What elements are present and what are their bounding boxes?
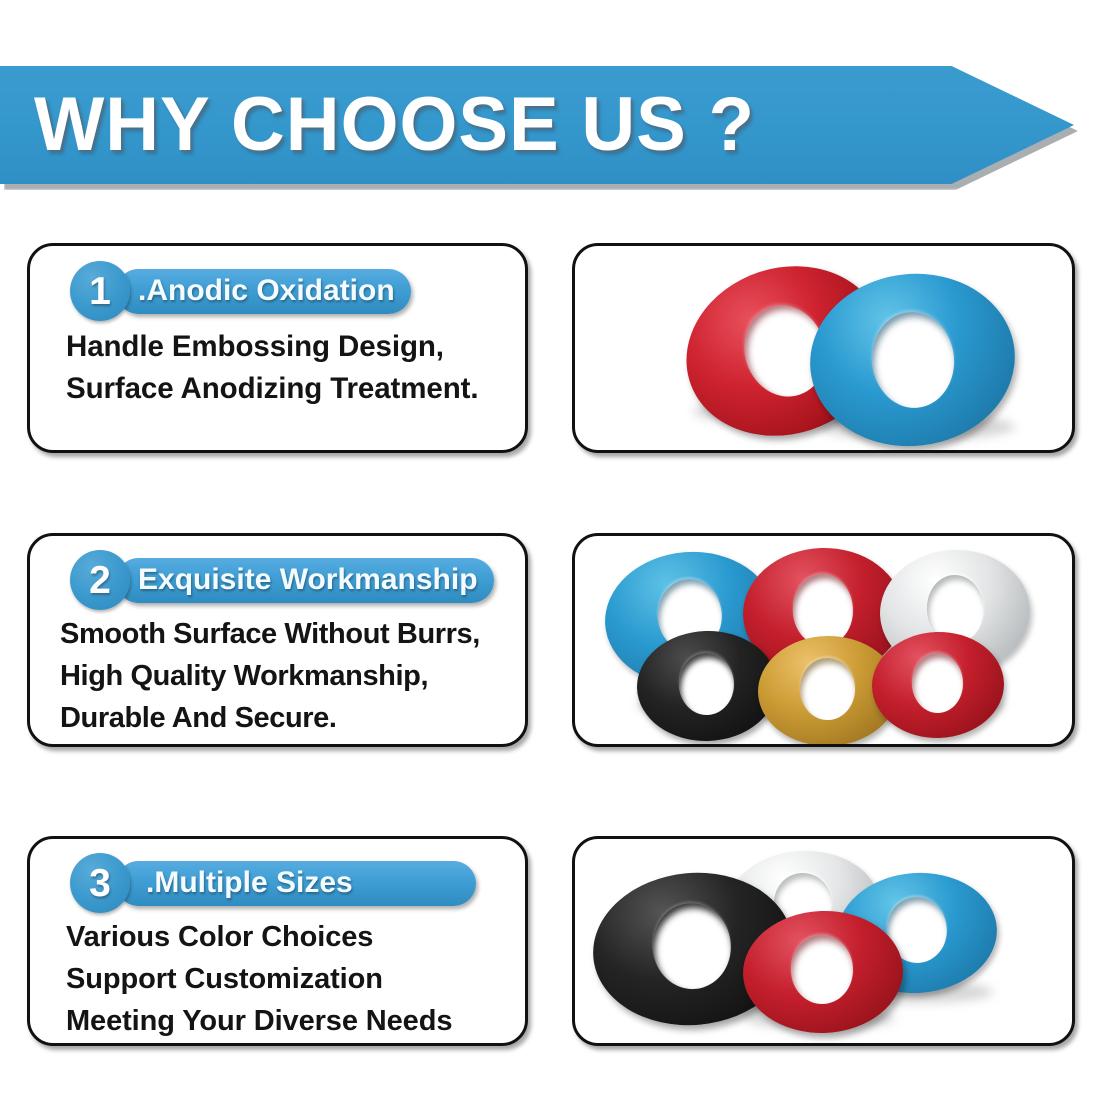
feature-heading-3: 3 .Multiple Sizes xyxy=(44,853,511,913)
feature-row-2: 2 Exquisite Workmanship Smooth Surface W… xyxy=(0,533,1100,747)
body-line: Handle Embossing Design, xyxy=(66,326,507,368)
feature-body-3: Various Color Choices Support Customizat… xyxy=(44,917,511,1042)
step-number-2: 2 xyxy=(89,561,111,600)
header-banner: WHY CHOOSE US ? xyxy=(0,66,1078,184)
feature-title-pill-3: .Multiple Sizes xyxy=(116,861,476,906)
feature-title-pill-1: .Anodic Oxidation xyxy=(116,269,411,314)
product-photo-3 xyxy=(572,836,1075,1046)
body-line: Surface Anodizing Treatment. xyxy=(66,368,507,410)
washer-hole xyxy=(678,652,735,715)
product-photo-1 xyxy=(572,243,1075,453)
product-photo-2 xyxy=(572,533,1075,747)
step-number-3: 3 xyxy=(89,864,111,903)
feature-card-1: 1 .Anodic Oxidation Handle Embossing Des… xyxy=(27,243,528,453)
banner-arrow-shape: WHY CHOOSE US ? xyxy=(0,66,1074,184)
step-badge-2: 2 xyxy=(70,550,130,610)
washer-hole xyxy=(799,658,855,721)
body-line: Various Color Choices xyxy=(66,917,507,959)
step-number-1: 1 xyxy=(89,272,111,311)
feature-body-2: Smooth Surface Without Burrs, High Quali… xyxy=(44,614,511,739)
feature-title-1: .Anodic Oxidation xyxy=(138,276,395,306)
feature-heading-2: 2 Exquisite Workmanship xyxy=(44,550,511,610)
body-line: Support Customization xyxy=(66,959,507,1001)
page-title: WHY CHOOSE US ? xyxy=(34,87,755,163)
feature-title-pill-2: Exquisite Workmanship xyxy=(116,558,494,603)
washer-group-six xyxy=(575,536,1072,744)
washer-group-two xyxy=(575,246,1072,450)
washer-group-four xyxy=(575,839,1072,1043)
feature-card-2: 2 Exquisite Workmanship Smooth Surface W… xyxy=(27,533,528,747)
body-line: Durable And Secure. xyxy=(60,698,507,740)
body-line: High Quality Workmanship, xyxy=(60,656,507,698)
feature-title-2: Exquisite Workmanship xyxy=(138,565,478,595)
feature-row-1: 1 .Anodic Oxidation Handle Embossing Des… xyxy=(0,243,1100,453)
feature-card-3: 3 .Multiple Sizes Various Color Choices … xyxy=(27,836,528,1046)
feature-title-3: .Multiple Sizes xyxy=(146,868,353,898)
body-line: Smooth Surface Without Burrs, xyxy=(60,614,507,656)
feature-row-3: 3 .Multiple Sizes Various Color Choices … xyxy=(0,836,1100,1046)
feature-heading-1: 1 .Anodic Oxidation xyxy=(44,260,511,322)
why-choose-us-infographic: WHY CHOOSE US ? 1 .Anodic Oxidation Hand… xyxy=(0,0,1100,1100)
feature-body-1: Handle Embossing Design, Surface Anodizi… xyxy=(44,326,511,411)
step-badge-3: 3 xyxy=(70,853,130,913)
step-badge-1: 1 xyxy=(70,261,130,321)
body-line: Meeting Your Diverse Needs xyxy=(66,1001,507,1043)
